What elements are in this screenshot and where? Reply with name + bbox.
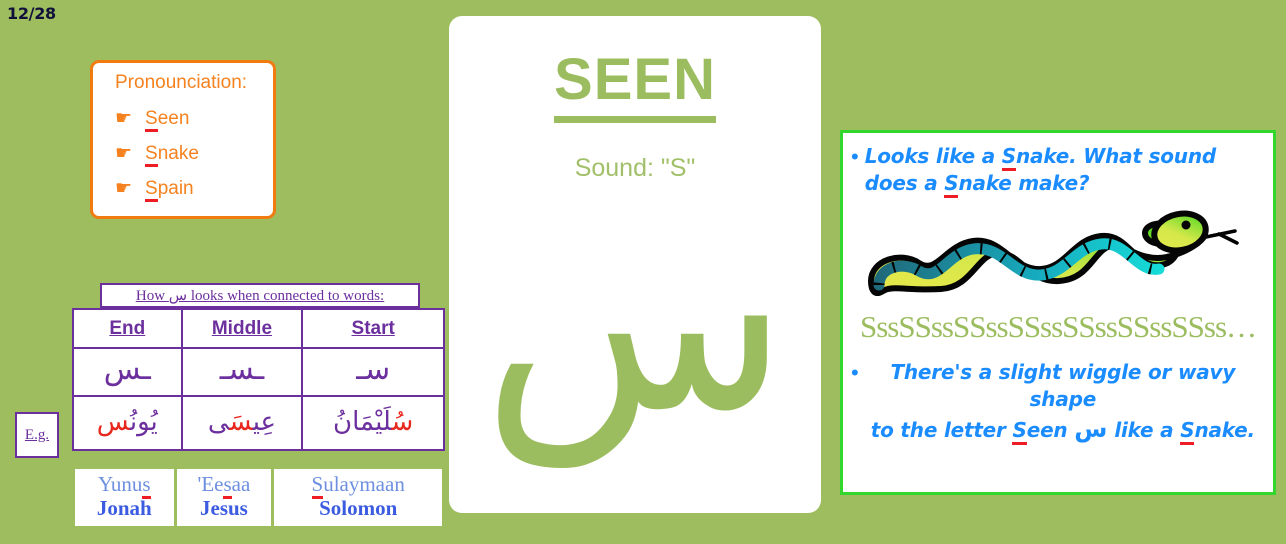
caption-suffix: looks when connected to words: [187, 288, 384, 304]
page-counter: 12/28 [7, 4, 56, 23]
inline-arabic-letter: س [1074, 415, 1107, 443]
example-word-middle: عِيسَى [182, 396, 303, 450]
highlighted-letter: S [145, 108, 158, 132]
pronunciation-word: Spain [145, 178, 194, 200]
example-prefix: عِي [253, 407, 276, 437]
pronunciation-word: Seen [145, 108, 189, 130]
pointing-hand-icon: ☛ [115, 144, 145, 163]
example-suffix: َى [208, 407, 230, 437]
pronunciation-word: Snake [145, 143, 199, 165]
hiss-text: SssSSssSSssSSssSSssSSssSSss… [843, 309, 1273, 345]
pronunciation-item-seen: ☛ Seen [115, 101, 273, 136]
highlighted-letter: S [145, 143, 158, 167]
example-label: E.g. [15, 412, 59, 458]
bullet-dot-icon: • [851, 143, 859, 197]
transliteration-table: Yunus Jonah 'Eesaa Jesus Sulaymaan Solom… [72, 469, 445, 526]
word-remainder: pain [158, 178, 194, 199]
example-highlight: س [230, 407, 253, 437]
transliteration-row: Yunus Jonah 'Eesaa Jesus Sulaymaan Solom… [75, 469, 442, 526]
table-forms-row: ـس ـسـ سـ [73, 348, 444, 396]
snake-head [1151, 209, 1209, 255]
transliteration-latin: 'Eesaa [177, 472, 272, 496]
letter-name-text: SEEN [554, 47, 716, 123]
bullet-text-1: Looks like a Snake. What sounddoes a Sna… [865, 143, 1216, 197]
letter-name: SEEN [449, 46, 821, 113]
example-highlight: سُ [392, 407, 414, 437]
form-middle: ـسـ [182, 348, 303, 396]
example-prefix: يُونُ [130, 407, 158, 437]
transliteration-cell-start: Sulaymaan Solomon [274, 469, 442, 526]
pointing-hand-icon: ☛ [115, 109, 145, 128]
example-suffix: لَيْمَانُ [333, 407, 392, 437]
caption-prefix: How [136, 288, 169, 304]
transliteration-latin: Sulaymaan [274, 472, 442, 496]
transliteration-cell-middle: 'Eesaa Jesus [177, 469, 272, 526]
table-caption: How س looks when connected to words: [100, 283, 420, 308]
pronunciation-box: Pronounciation: ☛ Seen ☛ Snake ☛ Spain [90, 60, 276, 219]
transliteration-english: Jesus [177, 496, 272, 520]
transliteration-english: Jonah [75, 496, 174, 520]
transliteration-cell-end: Yunus Jonah [75, 469, 174, 526]
example-word-start: سُلَيْمَانُ [302, 396, 444, 450]
snake-eye [1182, 221, 1191, 230]
pronunciation-item-snake: ☛ Snake [115, 136, 273, 171]
pronunciation-item-spain: ☛ Spain [115, 171, 273, 206]
letter-card: SEEN Sound: "S" س [449, 16, 821, 513]
letter-glyph: س [449, 196, 821, 446]
bullet-item-2: • There's a slight wiggle or wavy shapet… [843, 353, 1273, 445]
word-remainder: nake [158, 143, 199, 164]
table-header-row: End Middle Start [73, 309, 444, 348]
pronunciation-title: Pronounciation: [115, 72, 273, 94]
bullet-item-1: • Looks like a Snake. What sounddoes a S… [843, 133, 1273, 197]
table-examples-row: يُونُس عِيسَى سُلَيْمَانُ [73, 396, 444, 450]
table-header-start: Start [302, 309, 444, 348]
table-caption-text: How س looks when connected to words: [136, 286, 384, 305]
transliteration-english: Solomon [274, 496, 442, 520]
transliteration-latin: Yunus [75, 472, 174, 496]
bullet-text-2: There's a slight wiggle or wavy shapeto … [865, 359, 1261, 445]
forms-table: End Middle Start ـس ـسـ سـ يُونُس عِيسَى… [72, 308, 445, 451]
word-remainder: een [158, 108, 190, 129]
table-header-end: End [73, 309, 182, 348]
caption-arabic-letter: س [169, 288, 187, 304]
snake-svg [853, 205, 1263, 313]
form-end: ـس [73, 348, 182, 396]
example-highlight: س [97, 407, 130, 437]
pointing-hand-icon: ☛ [115, 179, 145, 198]
form-start: سـ [302, 348, 444, 396]
info-panel: • Looks like a Snake. What sounddoes a S… [840, 130, 1276, 495]
snake-illustration [843, 203, 1273, 315]
example-word-end: يُونُس [73, 396, 182, 450]
highlighted-letter: S [145, 178, 158, 202]
example-label-text: E.g. [25, 427, 49, 444]
bullet-dot-icon: • [851, 359, 859, 445]
table-header-middle: Middle [182, 309, 303, 348]
